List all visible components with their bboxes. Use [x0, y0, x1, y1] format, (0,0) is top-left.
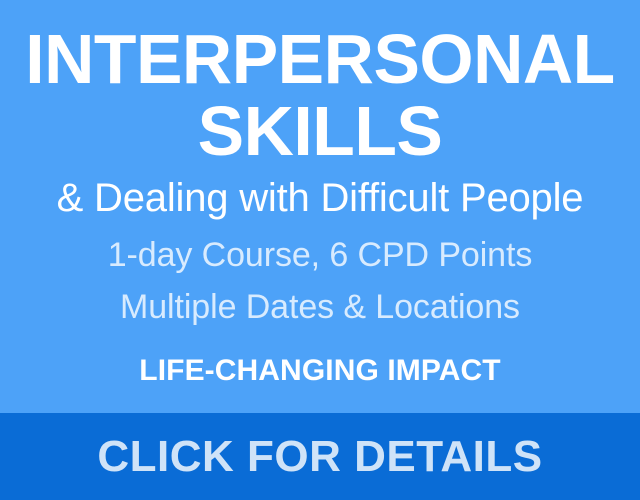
click-for-details-button[interactable]: CLICK FOR DETAILS: [0, 413, 640, 500]
cta-label: CLICK FOR DETAILS: [97, 433, 542, 481]
course-detail-line-1: 1-day Course, 6 CPD Points: [0, 232, 640, 278]
banner-content-area: INTERPERSONAL SKILLS & Dealing with Diff…: [0, 0, 640, 413]
course-detail-line-2: Multiple Dates & Locations: [0, 284, 640, 330]
impact-statement: LIFE-CHANGING IMPACT: [0, 354, 640, 388]
subheadline: & Dealing with Difficult People: [0, 174, 640, 222]
headline-block: INTERPERSONAL SKILLS: [0, 22, 640, 166]
advertisement-banner[interactable]: INTERPERSONAL SKILLS & Dealing with Diff…: [0, 0, 640, 500]
headline-line-2: SKILLS: [2, 96, 639, 166]
headline-line-1: INTERPERSONAL: [2, 22, 639, 96]
